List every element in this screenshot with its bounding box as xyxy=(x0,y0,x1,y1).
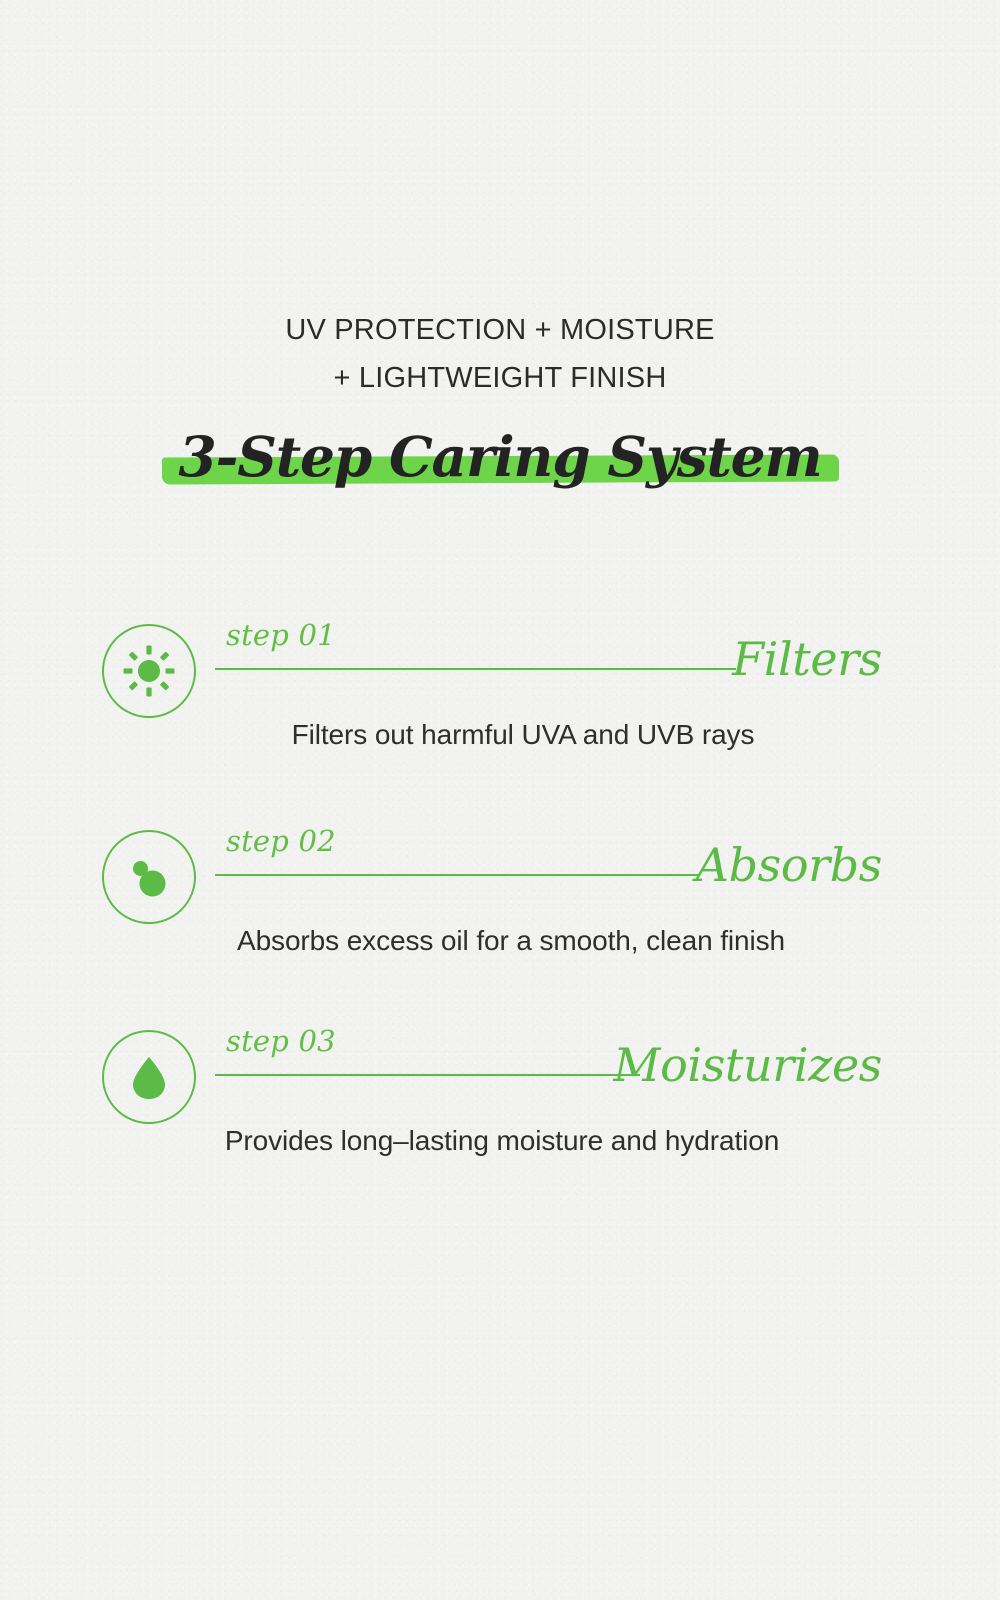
step-1-label: step 01 xyxy=(226,618,336,652)
step-2-icon-badge xyxy=(102,830,196,924)
eyebrow-line-2: + LIGHTWEIGHT FINISH xyxy=(0,354,1000,402)
step-2-label: step 02 xyxy=(226,824,336,858)
step-1-keyword: Filters xyxy=(732,632,882,686)
promo-panel: UV PROTECTION + MOISTURE + LIGHTWEIGHT F… xyxy=(0,0,1000,1600)
step-3-icon-badge xyxy=(102,1030,196,1124)
eyebrow-text: UV PROTECTION + MOISTURE + LIGHTWEIGHT F… xyxy=(0,306,1000,402)
step-2-description: Absorbs excess oil for a smooth, clean f… xyxy=(0,925,1000,957)
step-3-description: Provides long–lasting moisture and hydra… xyxy=(0,1125,1000,1157)
step-1-description: Filters out harmful UVA and UVB rays xyxy=(0,719,1000,751)
step-1-connector-line xyxy=(215,668,736,670)
title-text: 3-Step Caring System xyxy=(179,424,822,489)
step-2-keyword: Absorbs xyxy=(696,838,882,892)
step-1-icon-badge xyxy=(102,624,196,718)
eyebrow-line-1: UV PROTECTION + MOISTURE xyxy=(285,314,714,346)
step-3-label: step 03 xyxy=(226,1024,336,1058)
paper-grain-texture xyxy=(0,0,1000,1600)
step-3-connector-line xyxy=(215,1074,640,1076)
step-2-connector-line xyxy=(215,874,700,876)
title-inner: 3-Step Caring System xyxy=(171,424,830,489)
page-title: 3-Step Caring System xyxy=(0,424,1000,504)
step-3-keyword: Moisturizes xyxy=(613,1038,882,1092)
